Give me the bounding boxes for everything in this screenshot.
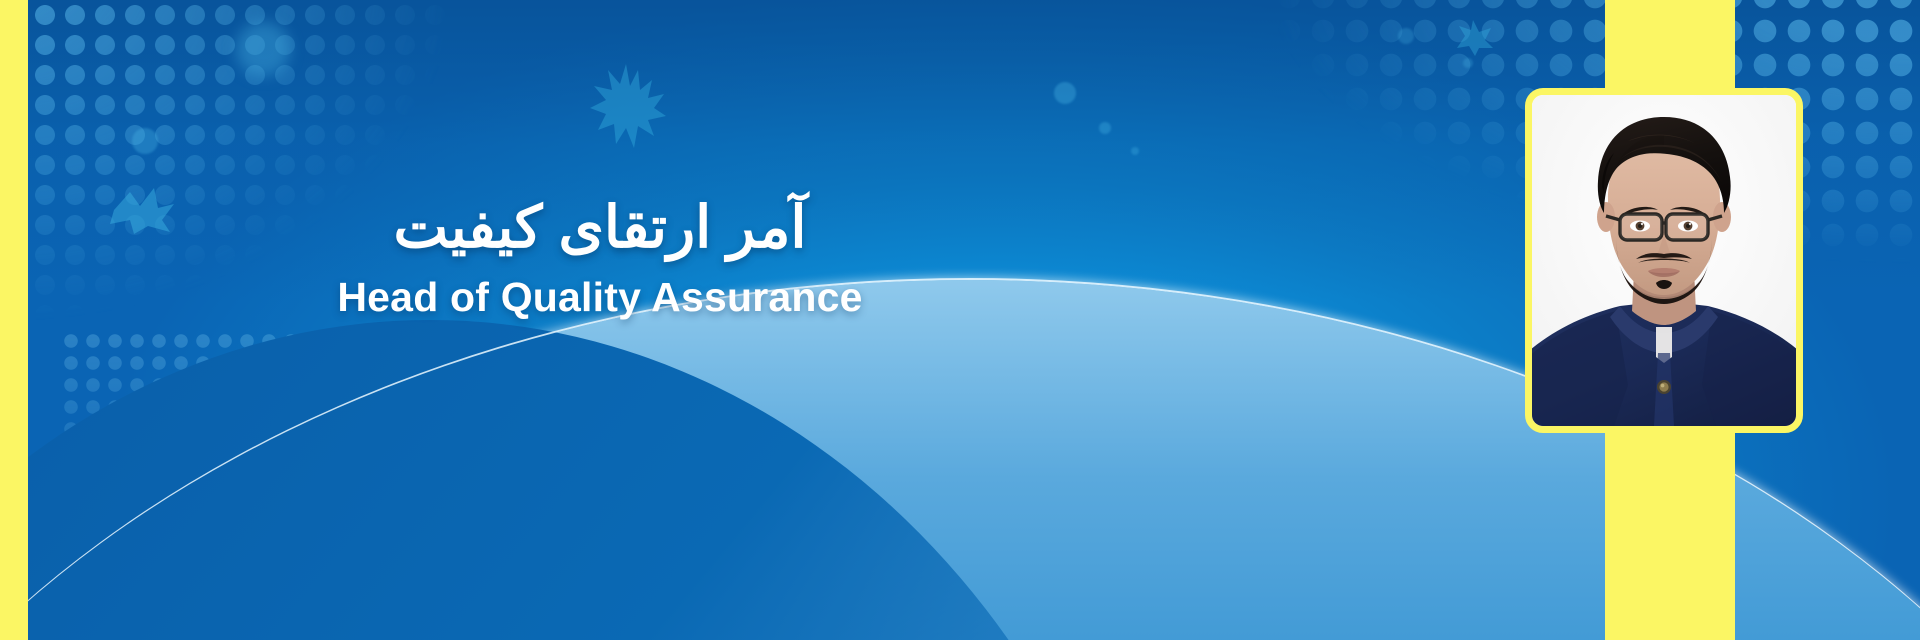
bokeh-dot bbox=[132, 128, 158, 154]
portrait-illustration bbox=[1532, 95, 1796, 426]
ink-splatter-icon bbox=[1455, 18, 1495, 58]
bokeh-dot bbox=[1054, 82, 1076, 104]
avatar bbox=[1532, 95, 1796, 426]
bokeh-dot bbox=[1131, 147, 1139, 155]
bokeh-dot bbox=[1099, 122, 1111, 134]
page-title-english: Head of Quality Assurance bbox=[0, 274, 1200, 321]
bokeh-dot bbox=[1463, 58, 1473, 68]
portrait-frame bbox=[1525, 88, 1803, 433]
bokeh-dot bbox=[236, 22, 290, 76]
title-group: آمر ارتقای کیفیت Head of Quality Assuran… bbox=[0, 196, 1200, 321]
bokeh-dot bbox=[1398, 28, 1414, 44]
page-title-dari: آمر ارتقای کیفیت bbox=[0, 196, 1200, 260]
profile-banner: آمر ارتقای کیفیت Head of Quality Assuran… bbox=[0, 0, 1920, 640]
ink-splatter-icon bbox=[586, 60, 670, 150]
